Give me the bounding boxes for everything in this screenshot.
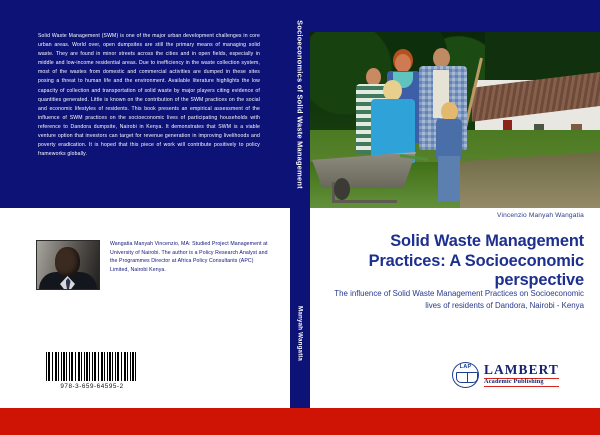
book-cover: Solid Waste Management (SWM) is one of t… bbox=[0, 0, 600, 435]
isbn-number: 978-3-659-64595-2 bbox=[46, 383, 138, 390]
person-body bbox=[436, 119, 462, 159]
front-top-band bbox=[310, 0, 600, 32]
portrait-head bbox=[55, 247, 80, 276]
publisher-tagline: Academic Publishing bbox=[484, 378, 559, 387]
barcode-bars bbox=[46, 352, 138, 381]
publisher-name: LAMBERT bbox=[484, 363, 559, 376]
photo-wheelbarrow-wheel bbox=[334, 178, 350, 200]
author-bio-block: Wangatia Manyah Vincenzio, MA: Studied P… bbox=[36, 240, 271, 290]
front-cover-author: Vincenzio Manyah Wangatia bbox=[310, 212, 600, 219]
bottom-red-bar bbox=[0, 408, 600, 435]
cover-photo bbox=[310, 32, 600, 208]
person-head bbox=[383, 80, 402, 101]
person-head bbox=[433, 48, 450, 68]
photo-person-girl-overalls bbox=[432, 102, 468, 202]
book-spine: Socioeconomics of Solid Waste Management… bbox=[290, 0, 310, 408]
author-bio-text: Wangatia Manyah Vincenzio, MA: Studied P… bbox=[110, 240, 271, 274]
front-cover-panel: Vincenzio Manyah Wangatia Solid Waste Ma… bbox=[310, 0, 600, 408]
emblem-open-book bbox=[456, 372, 478, 383]
barcode-block: 978-3-659-64595-2 bbox=[46, 352, 138, 390]
front-cover-subtitle: The influence of Solid Waste Management … bbox=[310, 288, 600, 311]
spine-author: Manyah Wangatia bbox=[297, 306, 304, 361]
person-legs bbox=[438, 156, 460, 202]
emblem-lap-text: LAP bbox=[452, 364, 479, 370]
front-cover-title: Solid Waste Management Practices: A Soci… bbox=[310, 232, 600, 291]
publisher-wordmark: LAMBERT Academic Publishing bbox=[484, 363, 559, 387]
publisher-logo: LAP LAMBERT Academic Publishing bbox=[452, 360, 572, 390]
author-portrait-photo bbox=[36, 240, 100, 290]
spine-title: Socioeconomics of Solid Waste Management bbox=[296, 20, 305, 189]
back-cover-blurb: Solid Waste Management (SWM) is one of t… bbox=[38, 32, 260, 159]
lap-book-icon: LAP bbox=[452, 362, 479, 388]
